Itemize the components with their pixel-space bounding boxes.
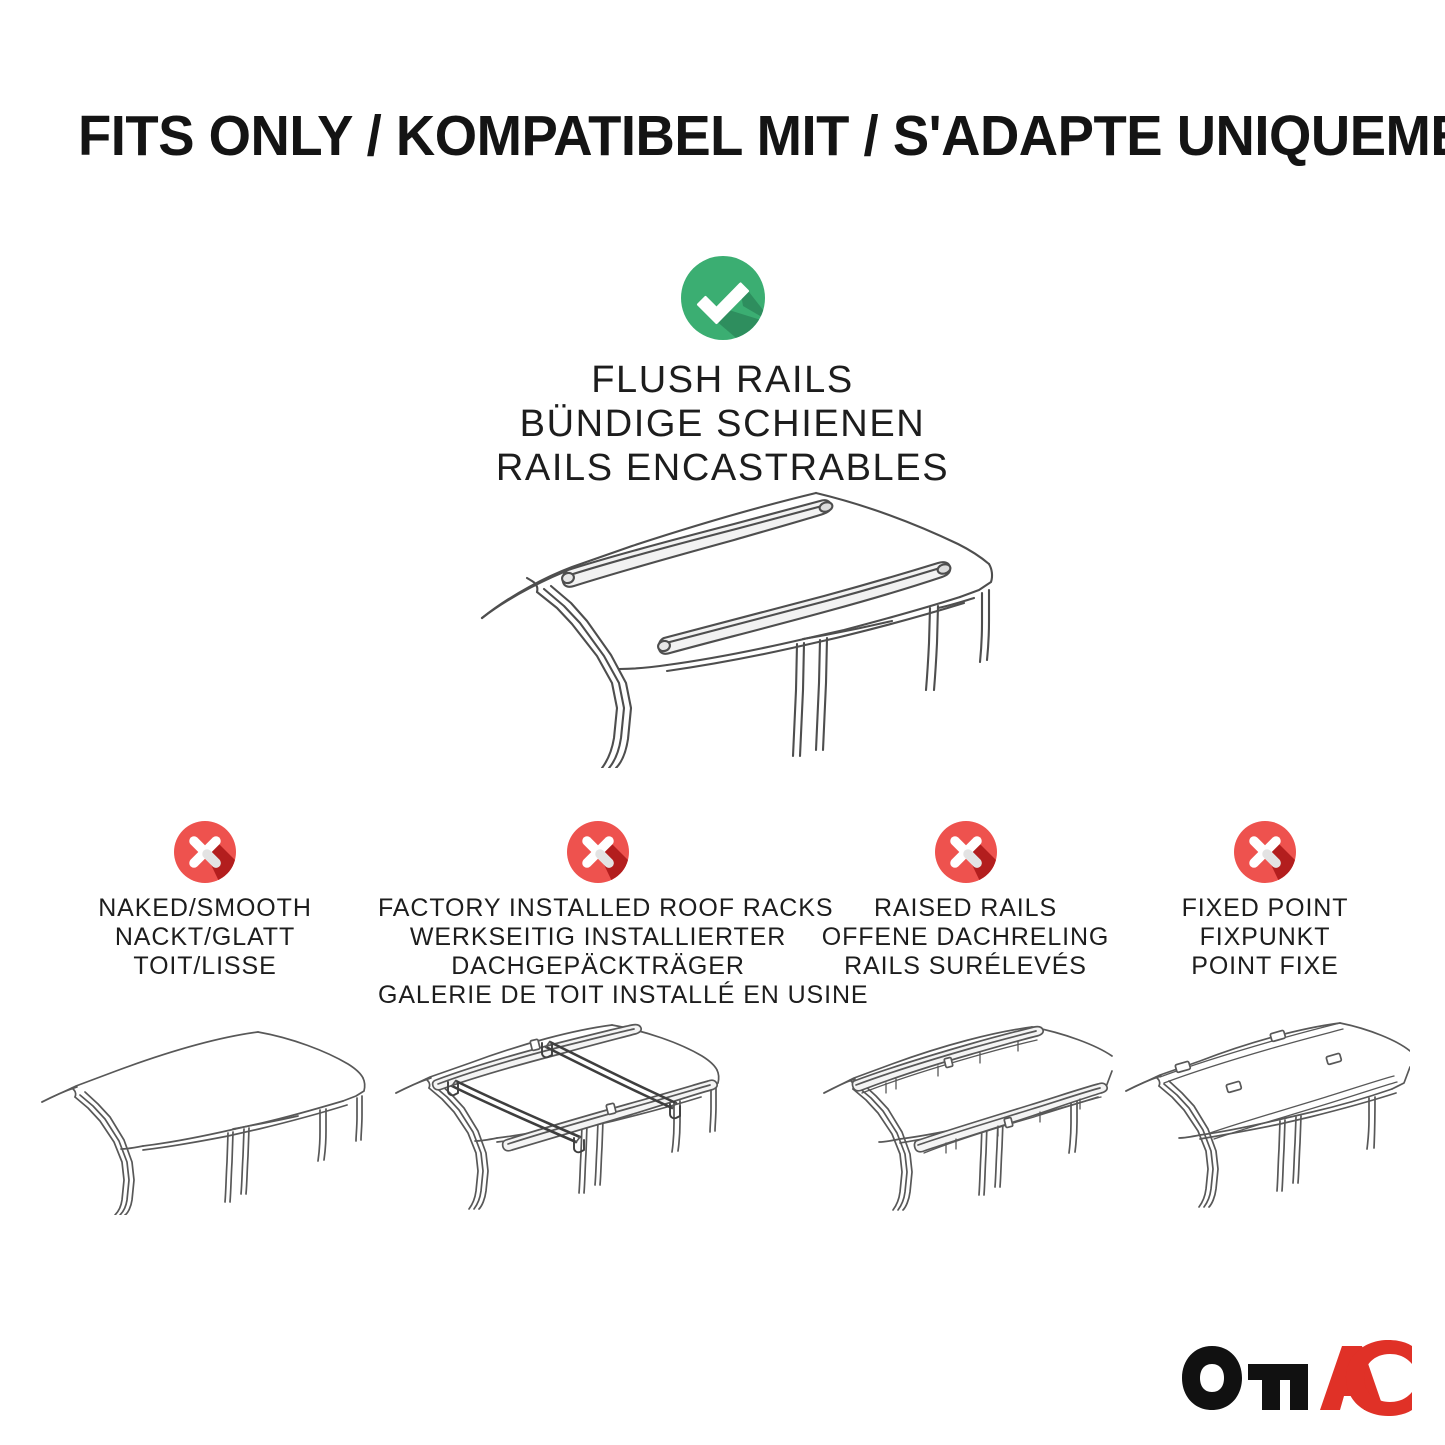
car-roof-with-flush-rails-illustration	[452, 468, 1012, 768]
red-x-circle-icon	[932, 818, 1000, 886]
incompatible-label-fr: RAILS SURÉLEVÉS	[818, 952, 1113, 981]
red-x-circle-icon	[1231, 818, 1299, 886]
compatible-label-en: FLUSH RAILS	[0, 358, 1445, 402]
incompatible-labels: RAISED RAILS OFFENE DACHRELING RAILS SUR…	[818, 894, 1113, 981]
compatible-label-de: BÜNDIGE SCHIENEN	[0, 402, 1445, 446]
car-roof-naked-illustration	[30, 1010, 380, 1215]
omac-logo	[1176, 1338, 1416, 1418]
incompatible-section: NAKED/SMOOTH NACKT/GLATT TOIT/LISSE	[0, 818, 1445, 1238]
compatibility-infographic: FITS ONLY / KOMPATIBEL MIT / S'ADAPTE UN…	[0, 0, 1445, 1445]
incompatible-label-en: NAKED/SMOOTH	[30, 894, 380, 923]
incompatible-item-naked-smooth: NAKED/SMOOTH NACKT/GLATT TOIT/LISSE	[30, 818, 380, 981]
incompatible-labels: FIXED POINT FIXPUNKT POINT FIXE	[1120, 894, 1410, 981]
incompatible-label-de-1: WERKSEITIG INSTALLIERTER	[378, 923, 818, 952]
incompatible-label-de-2: DACHGEPÄCKTRÄGER	[378, 952, 818, 981]
incompatible-item-raised-rails: RAISED RAILS OFFENE DACHRELING RAILS SUR…	[818, 818, 1113, 981]
incompatible-label-de: NACKT/GLATT	[30, 923, 380, 952]
red-x-circle-icon	[564, 818, 632, 886]
page-title: FITS ONLY / KOMPATIBEL MIT / S'ADAPTE UN…	[78, 104, 1320, 168]
car-roof-raised-rails-illustration	[818, 993, 1113, 1215]
car-roof-fixed-point-illustration	[1120, 993, 1410, 1215]
incompatible-label-fr: TOIT/LISSE	[30, 952, 380, 981]
incompatible-label-en: FIXED POINT	[1120, 894, 1410, 923]
incompatible-label-fr: POINT FIXE	[1120, 952, 1410, 981]
incompatible-label-en: RAISED RAILS	[818, 894, 1113, 923]
red-x-circle-icon	[171, 818, 239, 886]
incompatible-labels: NAKED/SMOOTH NACKT/GLATT TOIT/LISSE	[30, 894, 380, 981]
compatible-section: FLUSH RAILS BÜNDIGE SCHIENEN RAILS ENCAS…	[0, 250, 1445, 490]
incompatible-label-de: OFFENE DACHRELING	[818, 923, 1113, 952]
incompatible-label-en: FACTORY INSTALLED ROOF RACKS	[378, 894, 818, 923]
incompatible-label-de: FIXPUNKT	[1120, 923, 1410, 952]
incompatible-item-factory-installed-roof-racks: FACTORY INSTALLED ROOF RACKS WERKSEITIG …	[378, 818, 818, 1010]
car-roof-factory-racks-illustration	[378, 993, 818, 1215]
green-check-circle-icon	[675, 250, 771, 346]
incompatible-item-fixed-point: FIXED POINT FIXPUNKT POINT FIXE	[1120, 818, 1410, 981]
